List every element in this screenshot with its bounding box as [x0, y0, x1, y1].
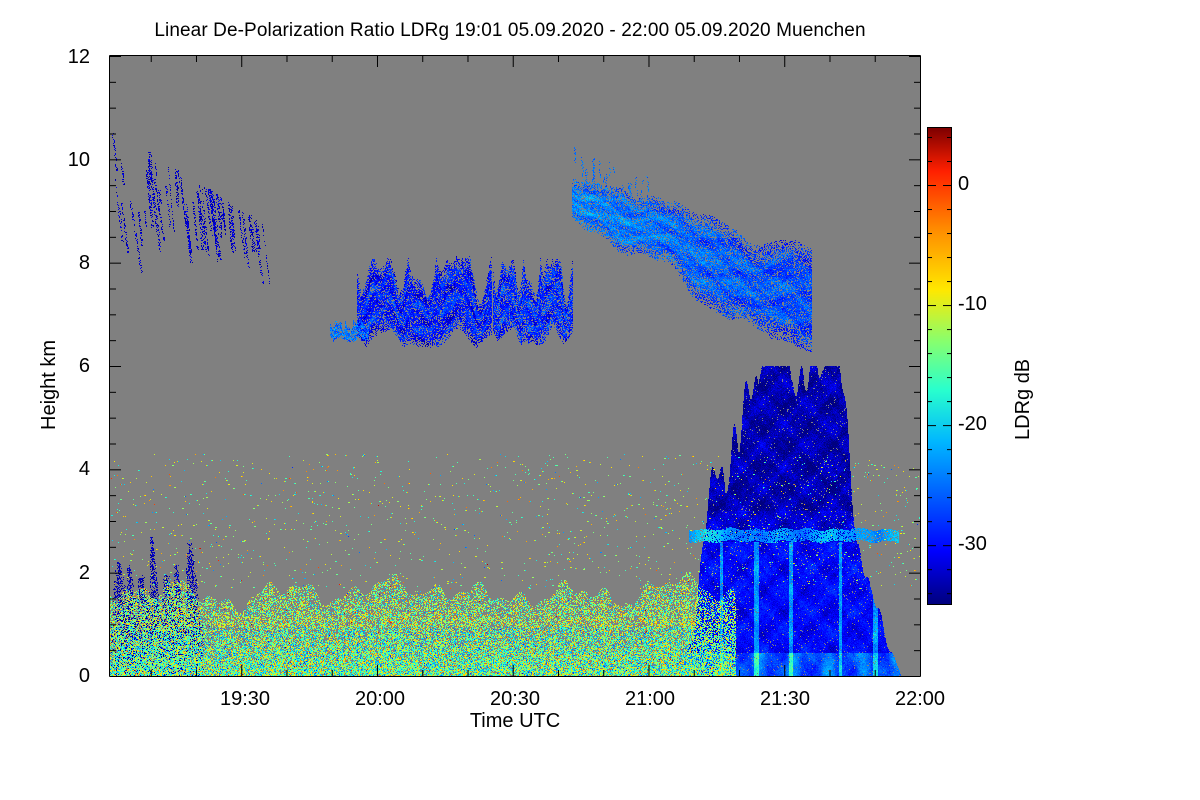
x-tick-label: 20:30 [460, 688, 570, 711]
y-tick-label: 10 [42, 149, 90, 172]
x-axis-label: Time UTC [110, 710, 920, 733]
colorbar-tick-label: 0 [958, 173, 969, 196]
x-tick-label: 21:30 [730, 688, 840, 711]
y-axis-label: Height km [38, 340, 61, 430]
y-tick-label: 0 [42, 665, 90, 688]
page-title: Linear De-Polarization Ratio LDRg 19:01 … [0, 20, 1020, 42]
colorbar-label: LDRg dB [1012, 359, 1035, 440]
x-tick-label: 20:00 [325, 688, 435, 711]
plot-figure: Linear De-Polarization Ratio LDRg 19:01 … [0, 0, 1200, 800]
y-tick-label: 8 [42, 252, 90, 275]
colorbar-tick-label: -10 [958, 293, 987, 316]
x-tick-label: 19:30 [190, 688, 300, 711]
x-tick-label: 22:00 [865, 688, 975, 711]
colorbar-tick-label: -30 [958, 533, 987, 556]
y-tick-label: 2 [42, 562, 90, 585]
x-tick-label: 21:00 [595, 688, 705, 711]
colorbar-tick-label: -20 [958, 413, 987, 436]
y-tick-label: 4 [42, 458, 90, 481]
y-tick-label: 6 [42, 355, 90, 378]
y-tick-label: 12 [42, 46, 90, 69]
